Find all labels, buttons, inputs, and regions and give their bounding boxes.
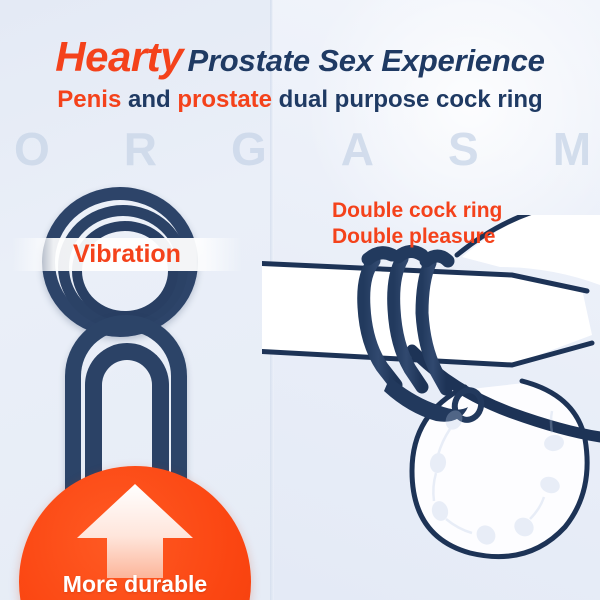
headline-accent-word: Hearty [55,33,183,80]
watermark-letter: R [124,126,158,172]
strap-cap-2 [398,251,422,257]
up-arrow-icon [75,482,195,578]
callout-line-2: Double pleasure [332,224,502,250]
watermark-letter: G [231,126,268,172]
strap-cap-1 [368,253,392,259]
product-marketing-image: O R G A S M Hearty Prostate Sex Experien… [0,0,600,600]
vibration-label: Vibration [12,239,242,270]
subtitle-part-prostate: prostate [177,86,272,113]
watermark-letter: S [448,126,480,172]
headline-main-text: Prostate Sex Experience [187,43,544,78]
subtitle-part-and: and [128,86,171,113]
strap-cap-3 [426,256,448,261]
feature-callout: Double cock ring Double pleasure [332,198,502,250]
subtitle-part-penis: Penis [57,86,121,113]
badge-label: More durable sex experience [19,570,251,600]
watermark-letter: M [553,126,592,172]
badge-line-1: More durable [19,570,251,598]
anatomy-illustration [262,215,600,600]
subtitle-part-tail: dual purpose cock ring [279,86,543,113]
callout-line-1: Double cock ring [332,198,502,224]
watermark-orgasm: O R G A S M [14,126,592,172]
anatomy-svg [262,215,600,600]
watermark-letter: A [341,126,375,172]
page-subtitle: Penis and prostate dual purpose cock rin… [0,86,600,114]
page-title: Hearty Prostate Sex Experience [0,33,600,81]
watermark-letter: O [14,126,51,172]
